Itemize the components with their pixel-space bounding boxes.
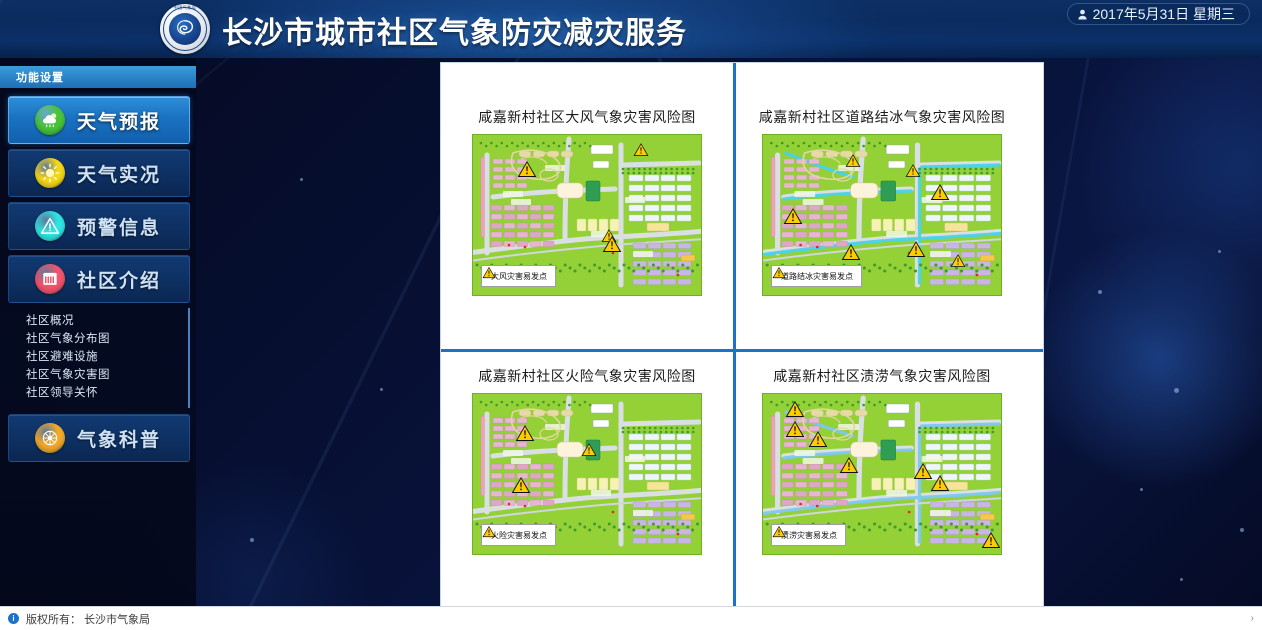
- community-risk-map[interactable]: 大风灾害易发点: [473, 135, 701, 295]
- sidebar-item-label: 社区介绍: [77, 266, 161, 293]
- hazard-marker-icon: [906, 240, 926, 258]
- content-panel: 咸嘉新村社区大风气象灾害风险图大风灾害易发点咸嘉新村社区道路结冰气象灾害风险图道…: [440, 62, 1044, 607]
- date-text: 2017年5月31日 星期三: [1093, 4, 1235, 24]
- sidebar-submenu: 社区概况社区气象分布图社区避难设施社区气象灾害图社区领导关怀: [8, 308, 190, 408]
- hazard-marker-icon: [785, 420, 805, 438]
- risk-map-title: 咸嘉新村社区火险气象灾害风险图: [441, 366, 733, 386]
- hazard-marker-icon: [839, 456, 859, 474]
- sidebar-item-1[interactable]: 天气实况: [8, 149, 190, 197]
- risk-map-title: 咸嘉新村社区道路结冰气象灾害风险图: [736, 107, 1028, 127]
- map-legend: 火险灾害易发点: [481, 524, 556, 546]
- sidebar-item-label: 天气实况: [77, 160, 161, 187]
- hazard-marker-icon: [633, 142, 649, 157]
- sidebar-item-0[interactable]: 天气预报: [8, 96, 190, 144]
- page-title: 长沙市城市社区气象防灾减灾服务: [222, 8, 687, 52]
- date-badge: 2017年5月31日 星期三: [1067, 3, 1250, 25]
- cloud-rain-icon: [35, 105, 65, 135]
- hazard-marker-icon: [515, 424, 535, 442]
- map-legend-label: 道路结冰灾害易发点: [781, 271, 853, 282]
- risk-map-panel-3[interactable]: 咸嘉新村社区渍涝气象灾害风险图渍涝灾害易发点: [736, 352, 1028, 607]
- sidebar-menu: 天气预报天气实况预警信息社区介绍社区概况社区气象分布图社区避难设施社区气象灾害图…: [8, 96, 190, 467]
- hazard-marker-icon: [845, 153, 861, 168]
- hazard-marker-icon: [930, 183, 950, 201]
- risk-map-title: 咸嘉新村社区渍涝气象灾害风险图: [736, 366, 1028, 386]
- community-risk-map[interactable]: 渍涝灾害易发点: [763, 394, 1001, 554]
- hazard-marker-icon: [783, 207, 803, 225]
- risk-map-panel-1[interactable]: 咸嘉新村社区道路结冰气象灾害风险图道路结冰灾害易发点: [736, 63, 1028, 349]
- atom-icon: [35, 423, 65, 453]
- submenu-item-0[interactable]: 社区概况: [8, 312, 188, 330]
- sidebar-item-2[interactable]: 预警信息: [8, 202, 190, 250]
- hazard-marker-icon: [517, 160, 537, 178]
- submenu-item-4[interactable]: 社区领导关怀: [8, 384, 188, 402]
- hazard-marker-icon: [950, 253, 966, 268]
- footer-arrow-icon[interactable]: ›: [1251, 613, 1254, 624]
- copyright-text: 版权所有： 长沙市气象局: [26, 611, 150, 627]
- cma-logo: 中国气象局: [160, 4, 210, 54]
- sidebar-item-3[interactable]: 社区介绍: [8, 255, 190, 303]
- sun-icon: [35, 158, 65, 188]
- submenu-item-1[interactable]: 社区气象分布图: [8, 330, 188, 348]
- app-header: 中国气象局 长沙市城市社区气象防灾减灾服务 2017年5月31日 星期三: [0, 0, 1262, 58]
- risk-map-grid: 咸嘉新村社区大风气象灾害风险图大风灾害易发点咸嘉新村社区道路结冰气象灾害风险图道…: [441, 63, 1043, 606]
- map-legend-label: 大风灾害易发点: [491, 271, 547, 282]
- sidebar: 功能设置 天气预报天气实况预警信息社区介绍社区概况社区气象分布图社区避难设施社区…: [0, 58, 196, 606]
- sidebar-item-4[interactable]: 气象科普: [8, 414, 190, 462]
- hazard-marker-icon: [841, 243, 861, 261]
- community-icon: [35, 264, 65, 294]
- hazard-marker-icon: [602, 235, 622, 253]
- sidebar-panel-header: 功能设置: [0, 66, 196, 88]
- sidebar-item-label: 预警信息: [77, 213, 161, 240]
- hazard-marker-icon: [785, 400, 805, 418]
- sidebar-item-label: 天气预报: [77, 107, 161, 134]
- app-footer: i 版权所有： 长沙市气象局 ›: [0, 606, 1262, 630]
- map-legend: 大风灾害易发点: [481, 265, 556, 287]
- logo-swirl-icon: [169, 13, 201, 45]
- submenu-item-2[interactable]: 社区避难设施: [8, 348, 188, 366]
- community-risk-map[interactable]: 道路结冰灾害易发点: [763, 135, 1001, 295]
- sidebar-item-label: 气象科普: [77, 425, 161, 452]
- risk-map-panel-2[interactable]: 咸嘉新村社区火险气象灾害风险图火险灾害易发点: [441, 352, 733, 607]
- risk-map-panel-0[interactable]: 咸嘉新村社区大风气象灾害风险图大风灾害易发点: [441, 63, 733, 349]
- hazard-marker-icon: [808, 430, 828, 448]
- hazard-marker-icon: [981, 531, 1001, 549]
- info-icon: i: [8, 613, 19, 624]
- map-legend: 道路结冰灾害易发点: [771, 265, 862, 287]
- hazard-marker-icon: [581, 442, 597, 457]
- map-legend-label: 渍涝灾害易发点: [781, 530, 837, 541]
- app-root: 中国气象局 长沙市城市社区气象防灾减灾服务 2017年5月31日 星期三: [0, 0, 1262, 630]
- hazard-marker-icon: [511, 476, 531, 494]
- map-legend: 渍涝灾害易发点: [771, 524, 846, 546]
- risk-map-title: 咸嘉新村社区大风气象灾害风险图: [441, 107, 733, 127]
- warning-triangle-icon: [35, 211, 65, 241]
- hazard-marker-icon: [905, 163, 921, 178]
- user-icon: [1078, 9, 1087, 20]
- sidebar-panel-title: 功能设置: [16, 69, 64, 85]
- community-risk-map[interactable]: 火险灾害易发点: [473, 394, 701, 554]
- map-legend-label: 火险灾害易发点: [491, 530, 547, 541]
- hazard-marker-icon: [930, 474, 950, 492]
- submenu-item-3[interactable]: 社区气象灾害图: [8, 366, 188, 384]
